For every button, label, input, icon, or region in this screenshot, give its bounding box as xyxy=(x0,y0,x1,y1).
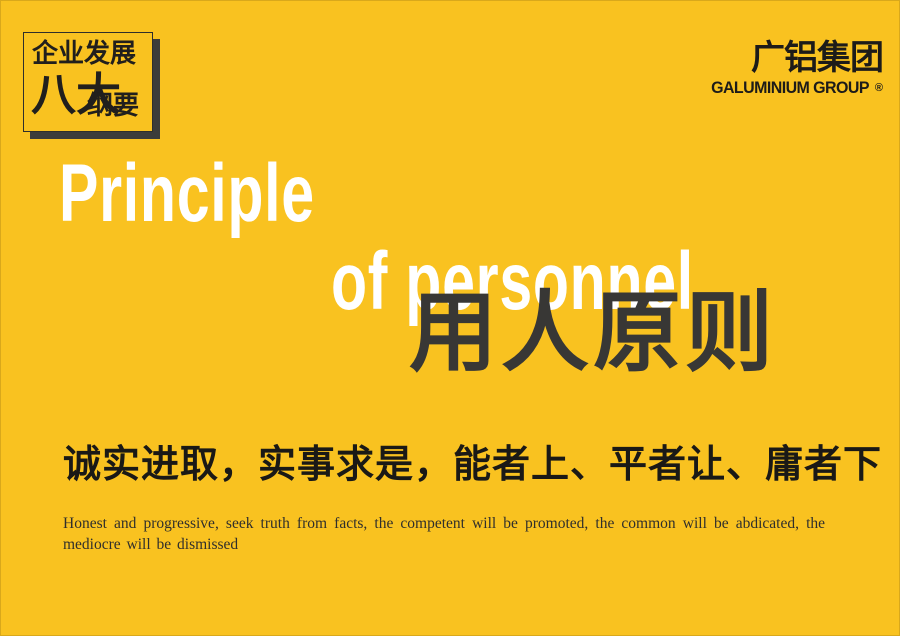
poster-canvas: 企业发展 八大 纲要 广铝集团 ® GALUMINIUM GROUP Princ… xyxy=(0,0,900,636)
registered-trademark-icon: ® xyxy=(875,83,882,94)
headline-line-1: Principle xyxy=(59,153,315,235)
brand-logo: 广铝集团 ® GALUMINIUM GROUP xyxy=(701,41,883,97)
brand-english-name: GALUMINIUM GROUP xyxy=(711,79,869,97)
corporate-outline-stamp: 企业发展 八大 纲要 xyxy=(23,32,153,132)
english-slogan: Honest and progressive, seek truth from … xyxy=(63,513,825,555)
brand-chinese-name: 广铝集团 xyxy=(751,40,883,77)
stamp-top-label: 企业发展 xyxy=(32,39,136,69)
chinese-slogan: 诚实进取，实事求是，能者上、平者让、庸者下 xyxy=(63,441,882,489)
brand-chinese-name-wrap: 广铝集团 ® xyxy=(751,41,883,77)
stamp-small-label: 纲要 xyxy=(87,91,139,121)
stamp-box: 企业发展 八大 纲要 xyxy=(23,32,153,132)
chinese-title: 用人原则 xyxy=(409,289,777,381)
